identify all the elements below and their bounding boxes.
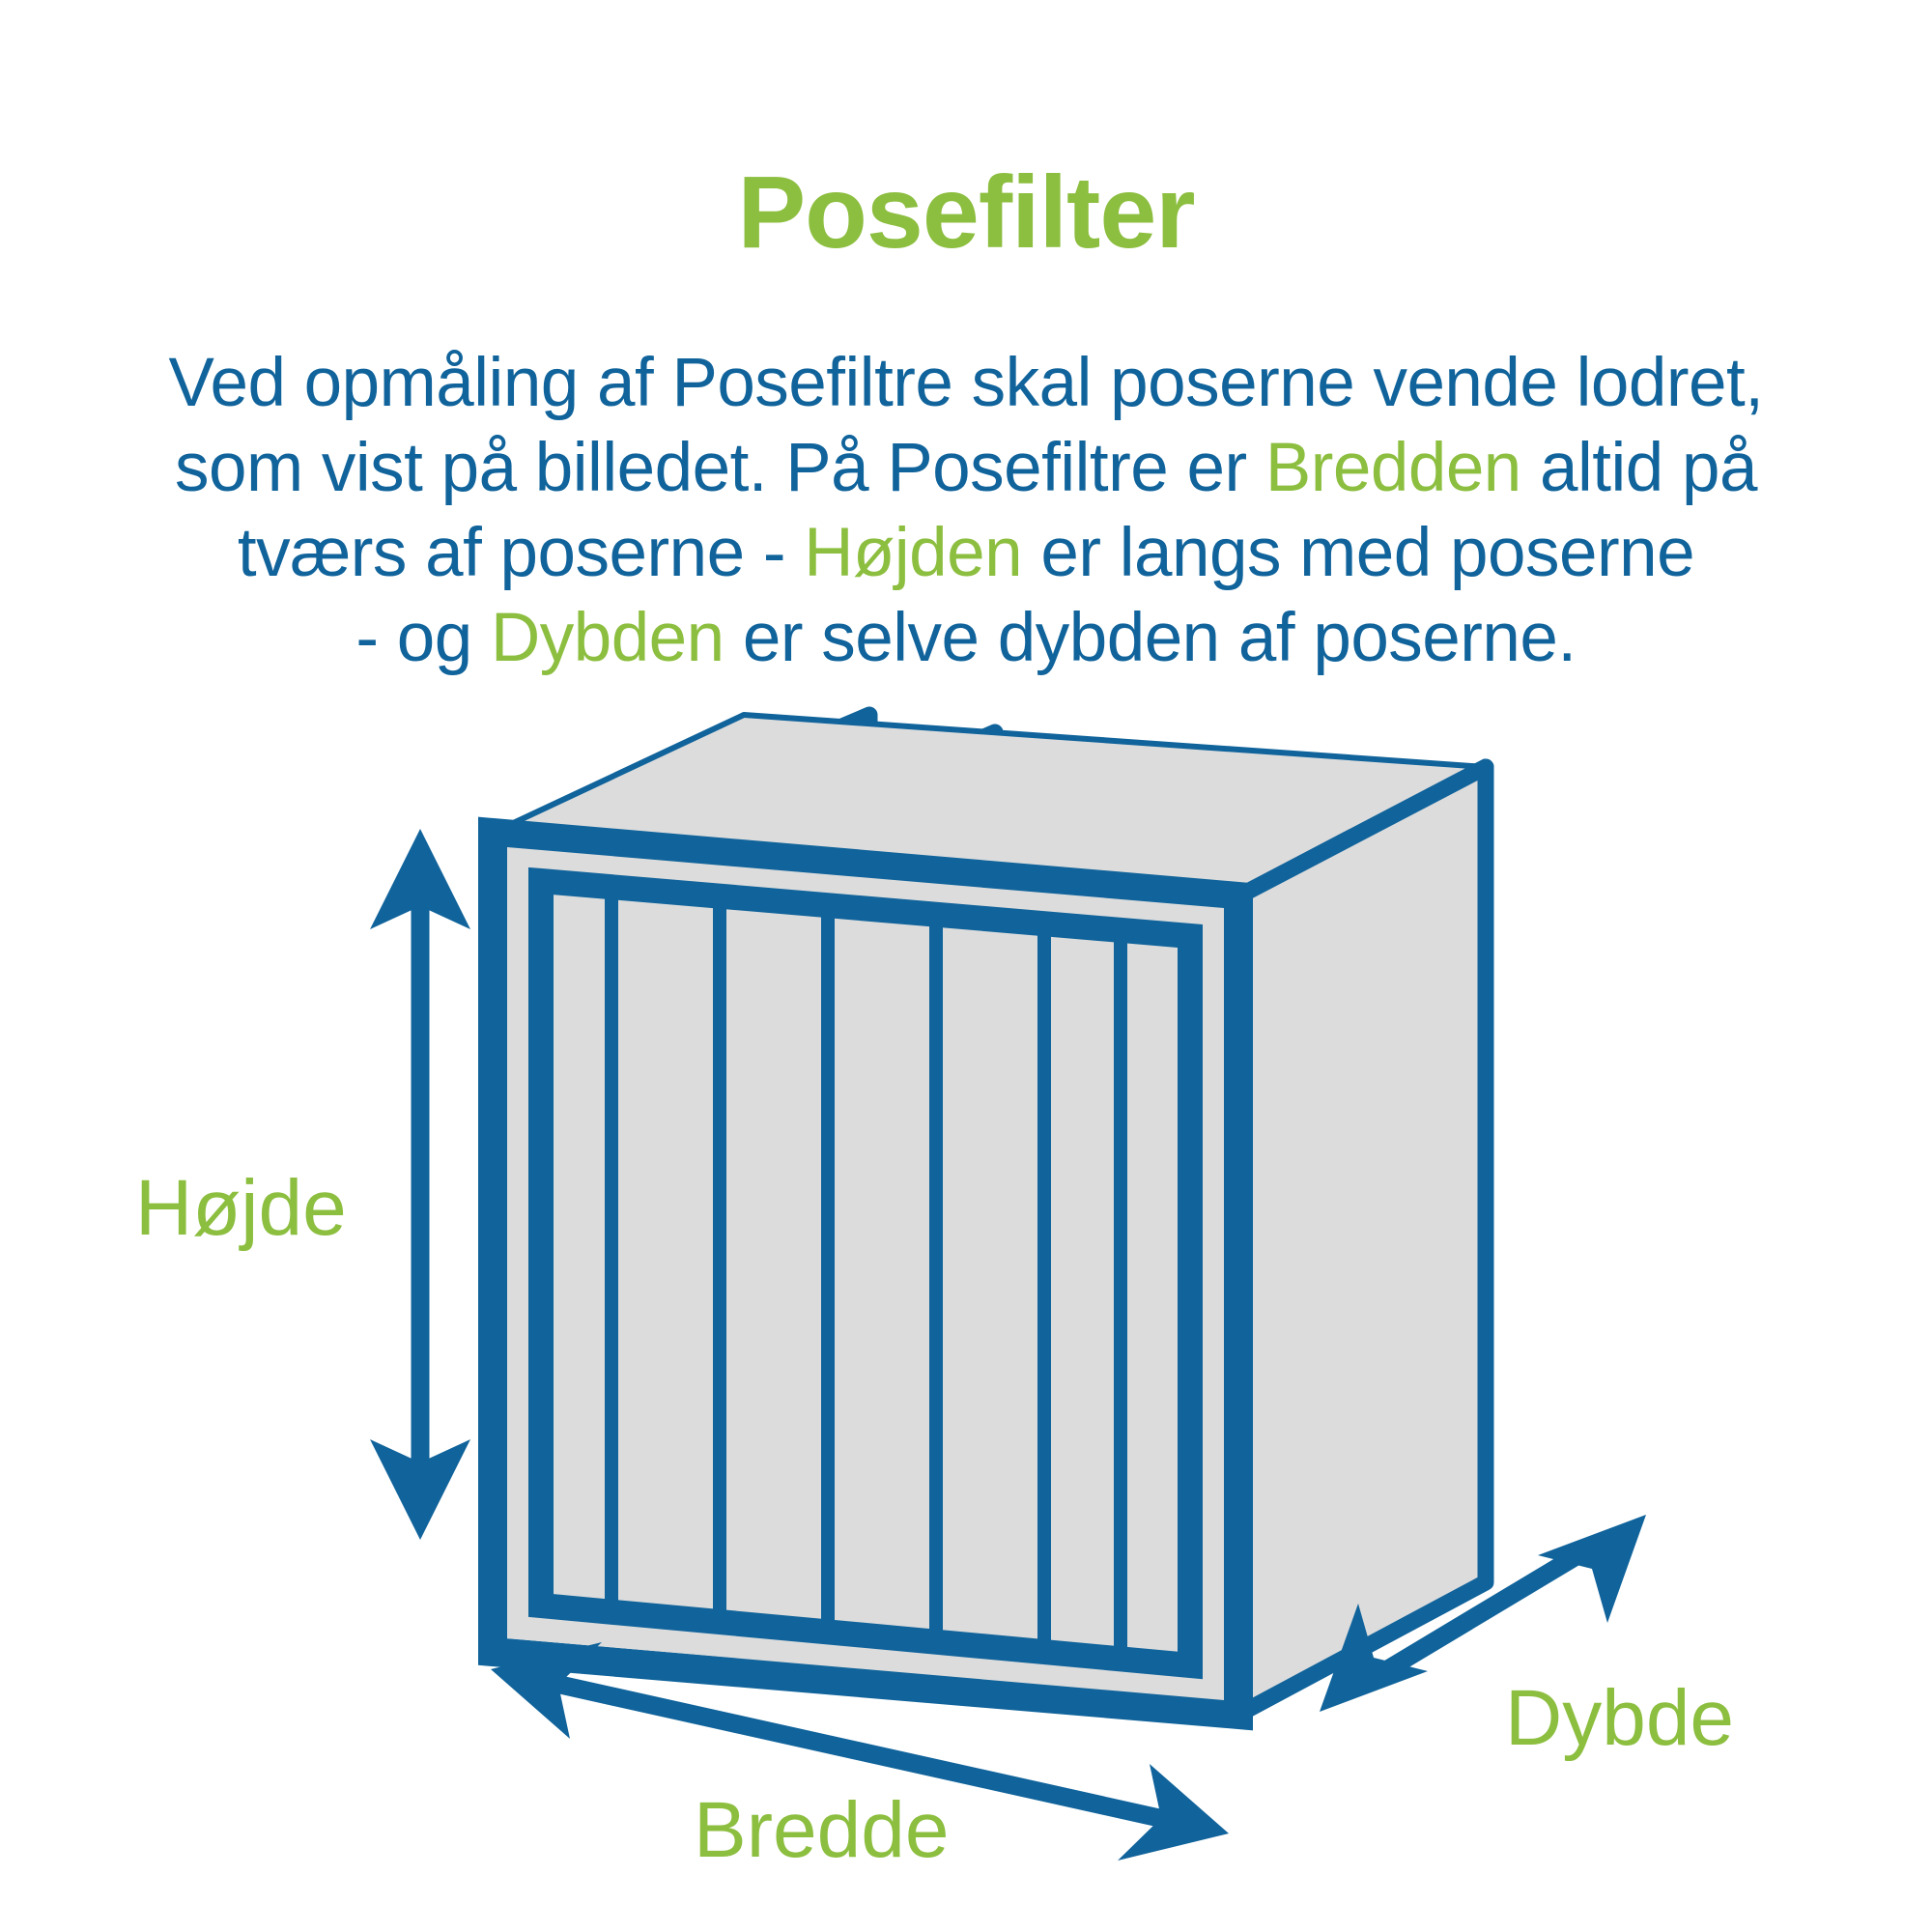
filter-diagram: Højde Bredde Dybde bbox=[0, 0, 1932, 1932]
filter-side-panel bbox=[1238, 767, 1486, 1715]
diagram-svg: Højde Bredde Dybde bbox=[0, 0, 1932, 1932]
depth-label: Dybde bbox=[1505, 1674, 1734, 1762]
height-dimension: Højde bbox=[135, 829, 470, 1540]
height-label: Højde bbox=[135, 1164, 347, 1252]
poster-root: Posefilter Ved opmåling af Posefiltre sk… bbox=[0, 0, 1932, 1932]
width-label: Bredde bbox=[694, 1786, 949, 1874]
